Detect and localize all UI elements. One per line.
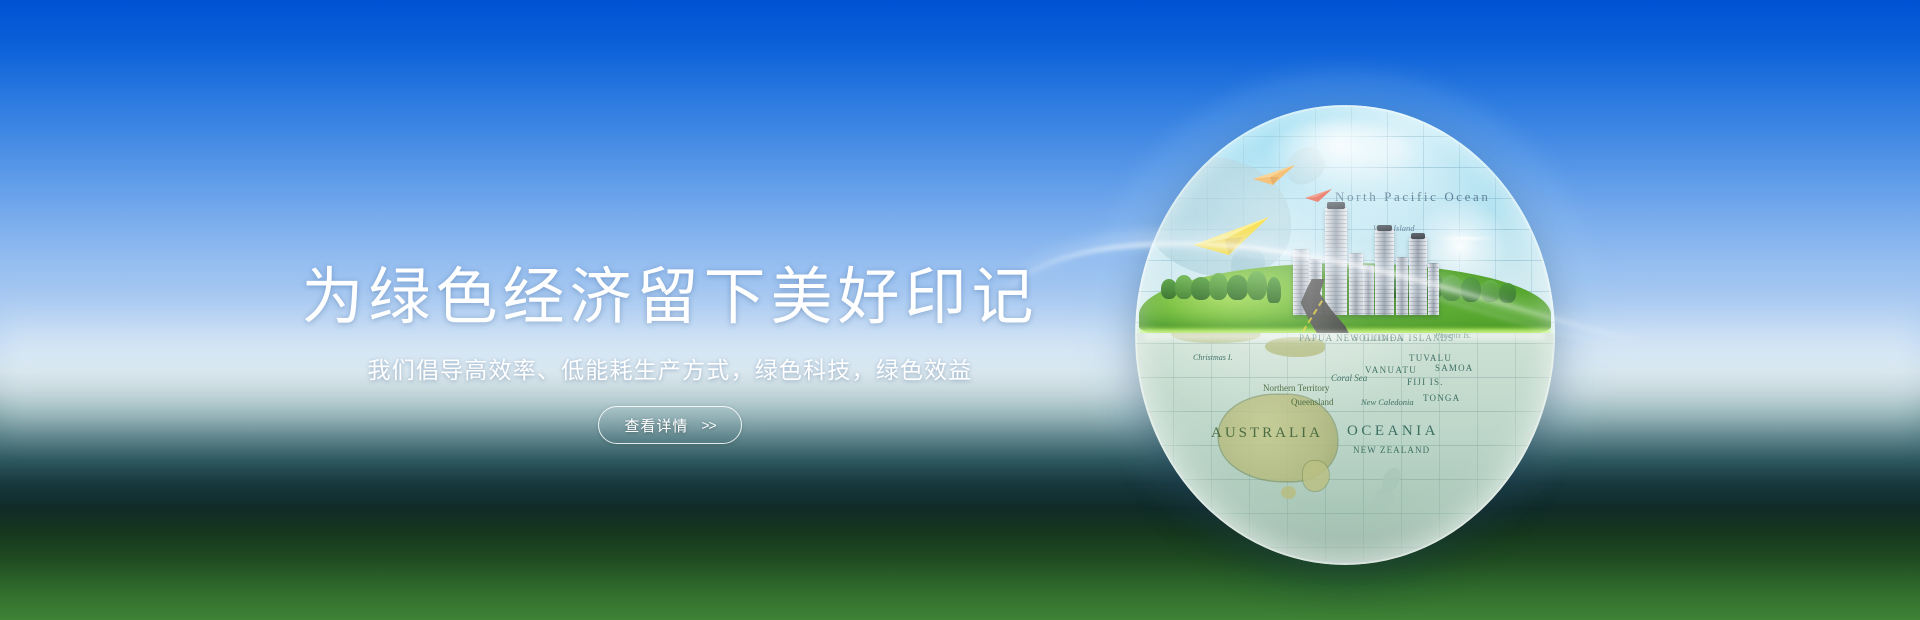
skyscraper	[1363, 265, 1374, 315]
skyscraper	[1375, 229, 1394, 315]
cta-container: 查看详情 >>	[0, 406, 1340, 444]
banner-copy-block: 为绿色经济留下美好印记 我们倡导高效率、低能耗生产方式，绿色科技，绿色效益 查看…	[0, 0, 1340, 620]
tree	[1461, 277, 1481, 302]
banner-subtitle: 我们倡导高效率、低能耗生产方式，绿色科技，绿色效益	[0, 354, 1340, 386]
page-title: 为绿色经济留下美好印记	[0, 264, 1340, 332]
view-details-button[interactable]: 查看详情 >>	[598, 406, 741, 444]
skyscraper-cap	[1411, 233, 1425, 239]
tree	[1481, 280, 1500, 302]
chevron-right-double-icon: >>	[701, 417, 715, 433]
skyscraper-cap	[1377, 225, 1392, 231]
skyscraper	[1409, 237, 1427, 315]
skyscraper	[1349, 253, 1363, 315]
view-details-label: 查看详情	[624, 415, 688, 436]
hero-banner: AUSTRALIA OCEANIA VANUATU FIJI IS. TONGA…	[0, 0, 1920, 620]
skyscraper	[1428, 263, 1439, 315]
skyscraper	[1396, 257, 1408, 315]
tree	[1499, 283, 1516, 303]
